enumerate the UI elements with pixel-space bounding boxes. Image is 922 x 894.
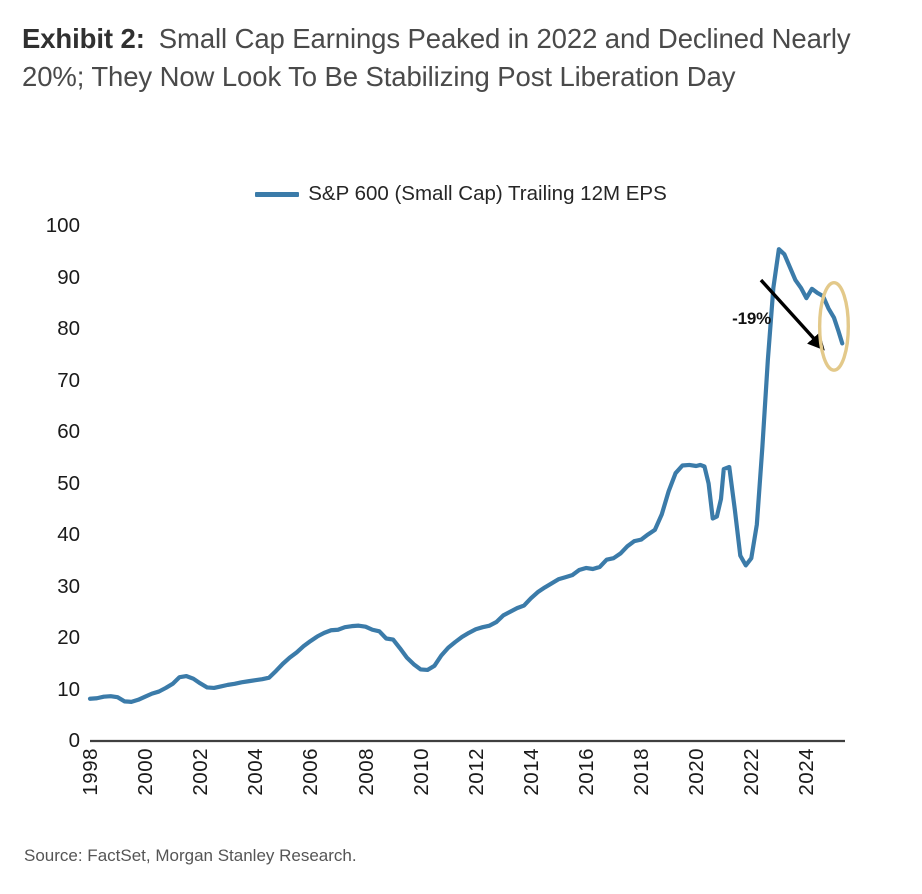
x-tick-2020: 2020	[685, 748, 709, 796]
x-tick-2014: 2014	[520, 748, 544, 796]
exhibit-label: Exhibit 2:	[22, 23, 145, 54]
series-line-s-and-p-600	[90, 249, 842, 702]
chart-plot-area	[0, 215, 922, 760]
chart-legend: S&P 600 (Small Cap) Trailing 12M EPS	[0, 182, 922, 206]
x-tick-2008: 2008	[355, 748, 379, 796]
page-title: Exhibit 2:Small Cap Earnings Peaked in 2…	[22, 20, 882, 96]
stabilization-highlight-circle	[820, 283, 849, 371]
x-tick-1998: 1998	[79, 748, 103, 796]
x-tick-2024: 2024	[795, 748, 819, 796]
x-tick-2018: 2018	[630, 748, 654, 796]
x-axis-tick-labels: 1998200020022004200620082010201220142016…	[0, 748, 922, 830]
x-tick-2004: 2004	[244, 748, 268, 796]
legend-item-label: S&P 600 (Small Cap) Trailing 12M EPS	[308, 182, 667, 206]
source-note: Source: FactSet, Morgan Stanley Research…	[24, 846, 357, 866]
x-tick-2006: 2006	[299, 748, 323, 796]
x-tick-2002: 2002	[189, 748, 213, 796]
exhibit-title-text: Small Cap Earnings Peaked in 2022 and De…	[22, 23, 851, 92]
decline-percent-annotation: -19%	[732, 309, 771, 329]
legend-line-swatch	[255, 192, 299, 197]
x-tick-2022: 2022	[740, 748, 764, 796]
x-tick-2010: 2010	[410, 748, 434, 796]
x-tick-2000: 2000	[134, 748, 158, 796]
line-chart-svg	[0, 215, 922, 760]
x-tick-2012: 2012	[465, 748, 489, 796]
x-tick-2016: 2016	[575, 748, 599, 796]
